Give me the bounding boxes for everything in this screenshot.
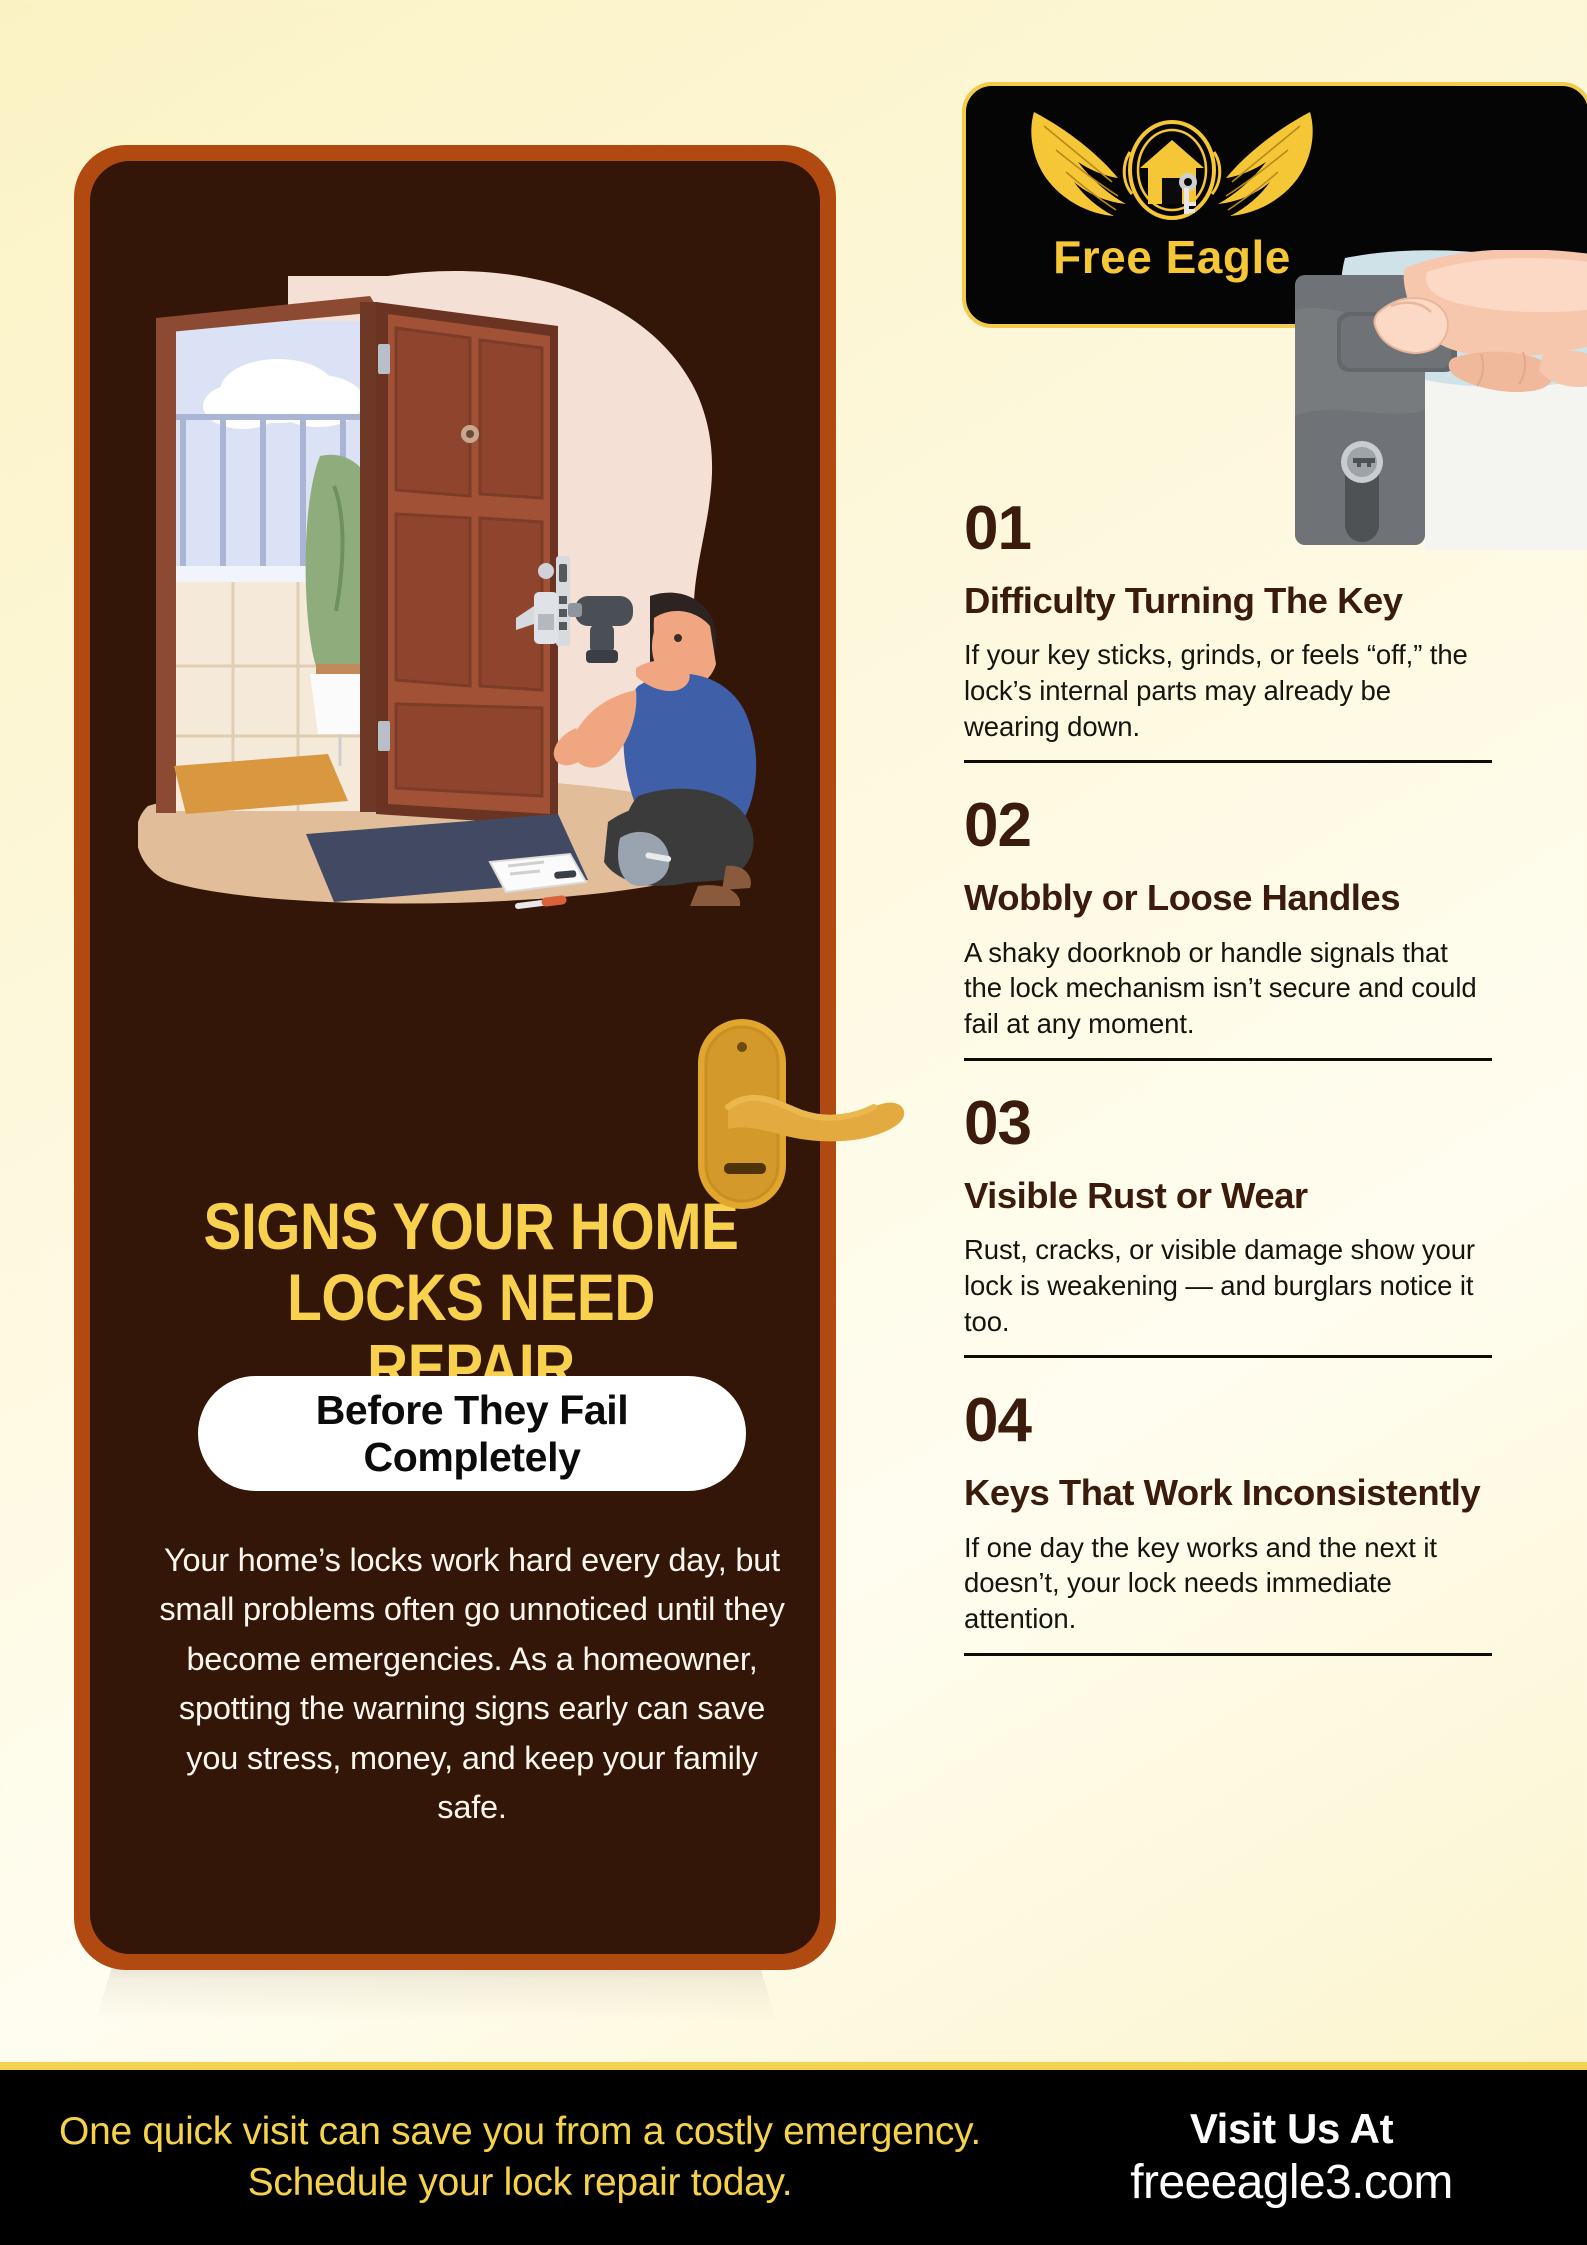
item-title: Visible Rust or Wear	[964, 1175, 1492, 1216]
eagle-wings-house-key-logo-icon	[1022, 96, 1322, 236]
item-description: If one day the key works and the next it…	[964, 1530, 1492, 1637]
list-item: 02 Wobbly or Loose Handles A shaky doork…	[964, 773, 1492, 1070]
footer-bar: One quick visit can save you from a cost…	[0, 2070, 1587, 2245]
item-number: 02	[964, 795, 1492, 857]
item-number: 03	[964, 1093, 1492, 1155]
item-title: Difficulty Turning The Key	[964, 580, 1492, 621]
locksmith-installing-door-lock-illustration	[138, 266, 778, 916]
footer-contact[interactable]: Visit Us At freeeagle3.com	[1020, 2105, 1587, 2210]
item-divider	[964, 760, 1492, 763]
hero-subtitle: Before They Fail Completely	[316, 1387, 629, 1480]
hero-subtitle-pill: Before They Fail Completely	[198, 1376, 746, 1491]
visit-us-label: Visit Us At	[1020, 2105, 1563, 2153]
footer-accent-line	[0, 2062, 1587, 2070]
item-divider	[964, 1653, 1492, 1656]
gold-door-handle-icon	[676, 995, 916, 1225]
item-description: If your key sticks, grinds, or feels “of…	[964, 637, 1492, 744]
list-item: 04 Keys That Work Inconsistently If one …	[964, 1368, 1492, 1665]
item-title: Wobbly or Loose Handles	[964, 877, 1492, 918]
item-description: A shaky doorknob or handle signals that …	[964, 935, 1492, 1042]
subtitle-line-1: Before They Fail	[316, 1387, 629, 1433]
website-url[interactable]: freeeagle3.com	[1020, 2155, 1563, 2210]
item-divider	[964, 1355, 1492, 1358]
hand-gripping-door-lever-lock-icon	[1275, 250, 1587, 550]
list-item: 03 Visible Rust or Wear Rust, cracks, or…	[964, 1071, 1492, 1368]
subtitle-line-2: Completely	[363, 1434, 580, 1480]
item-number: 04	[964, 1390, 1492, 1452]
hero-body-text: Your home’s locks work hard every day, b…	[152, 1536, 792, 1832]
brand-name: Free Eagle	[1053, 230, 1291, 284]
signs-list: 01 Difficulty Turning The Key If your ke…	[964, 498, 1492, 1666]
footer-cta-text: One quick visit can save you from a cost…	[0, 2107, 1020, 2208]
item-description: Rust, cracks, or visible damage show you…	[964, 1232, 1492, 1339]
item-divider	[964, 1058, 1492, 1061]
item-title: Keys That Work Inconsistently	[964, 1472, 1492, 1513]
